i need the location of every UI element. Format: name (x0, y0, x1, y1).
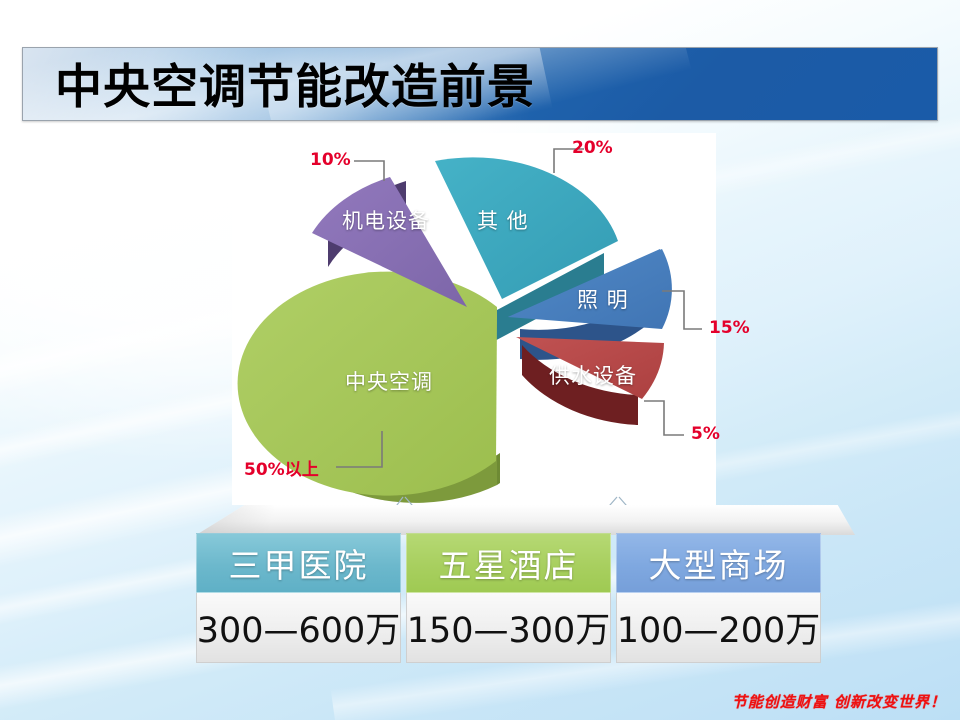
table-cell-hotel-value: 150—300万 (406, 593, 611, 663)
comparison-table: 三甲医院 300—600万 五星酒店 150—300万 大型商场 100—200… (165, 505, 855, 665)
pie-chart: 机电设备 其 他 照 明 供水设备 中央空调 20% 10% 15% 5% 50… (232, 133, 716, 505)
percent-label-lighting: 15% (709, 318, 750, 338)
footer-slogan: 节能创造财富 创新改变世界！ (732, 691, 946, 712)
slice-label-mechanical: 机电设备 (342, 205, 430, 235)
slide-canvas: 中央空调节能改造前景 (0, 0, 960, 720)
percent-label-mechanical: 10% (310, 150, 351, 170)
table-grid: 三甲医院 300—600万 五星酒店 150—300万 大型商场 100—200… (196, 533, 821, 663)
title-banner: 中央空调节能改造前景 (22, 47, 938, 121)
table-3d-top-surface (165, 505, 855, 535)
percent-label-water: 5% (691, 424, 720, 444)
leader-line-mechanical (354, 161, 384, 181)
percent-label-central-ac: 50%以上 (244, 455, 319, 480)
percent-label-other: 20% (572, 138, 613, 158)
slice-label-central-ac: 中央空调 (345, 366, 433, 396)
leader-line-water (644, 401, 684, 435)
table-header-hotel: 五星酒店 (406, 533, 611, 593)
slice-side-cap (497, 453, 500, 485)
table-column-hotel[interactable]: 五星酒店 150—300万 (406, 533, 611, 663)
table-column-hospital[interactable]: 三甲医院 300—600万 (196, 533, 401, 663)
slice-label-other: 其 他 (477, 205, 529, 235)
table-cell-hospital-value: 300—600万 (196, 593, 401, 663)
table-top-shading (165, 505, 855, 535)
table-column-mall[interactable]: 大型商场 100—200万 (616, 533, 821, 663)
page-title: 中央空调节能改造前景 (55, 48, 535, 117)
slice-label-lighting: 照 明 (577, 284, 629, 314)
pie-chart-svg (232, 133, 716, 505)
slice-label-water: 供水设备 (549, 360, 637, 390)
table-header-hospital: 三甲医院 (196, 533, 401, 593)
table-header-mall: 大型商场 (616, 533, 821, 593)
table-cell-mall-value: 100—200万 (616, 593, 821, 663)
